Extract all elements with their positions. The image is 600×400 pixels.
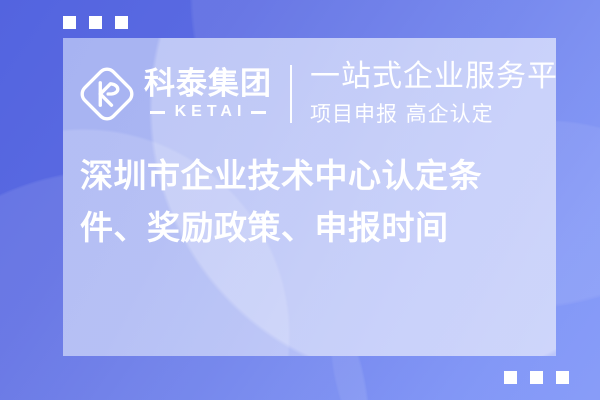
dot-square [556, 371, 569, 384]
decorative-dots-top-left [63, 16, 128, 29]
tagline-block: 一站式企业服务平台 项目申报 高企认定 [310, 60, 556, 128]
page-title: 深圳市企业技术中心认定条件、奖励政策、申报时间 [80, 150, 548, 254]
dot-square [63, 16, 76, 29]
content-panel: 科泰集团 KETAI 一站式企业服务平台 项目申报 高企认定 深圳市企业技术中心… [63, 38, 556, 356]
decorative-dots-bottom-right [504, 371, 569, 384]
brand-name-cn: 科泰集团 [144, 68, 272, 99]
rule-right [251, 111, 266, 114]
dot-square [115, 16, 128, 29]
brand-header-row: 科泰集团 KETAI 一站式企业服务平台 项目申报 高企认定 [71, 42, 556, 146]
tagline-secondary: 项目申报 高企认定 [310, 98, 556, 128]
dot-square [504, 371, 517, 384]
dot-square [530, 371, 543, 384]
brand-name-en: KETAI [170, 104, 247, 120]
brand-logo-lockup[interactable]: 科泰集团 KETAI [71, 66, 272, 122]
rule-left [150, 111, 165, 114]
tagline-primary: 一站式企业服务平台 [310, 60, 556, 94]
dot-square [89, 16, 102, 29]
brand-wordmark: 科泰集团 KETAI [144, 68, 272, 120]
brand-name-en-row: KETAI [150, 104, 267, 120]
ketai-diamond-kp-monogram-icon [79, 66, 135, 122]
vertical-divider [290, 65, 292, 123]
promo-banner: 科泰集团 KETAI 一站式企业服务平台 项目申报 高企认定 深圳市企业技术中心… [0, 0, 600, 400]
